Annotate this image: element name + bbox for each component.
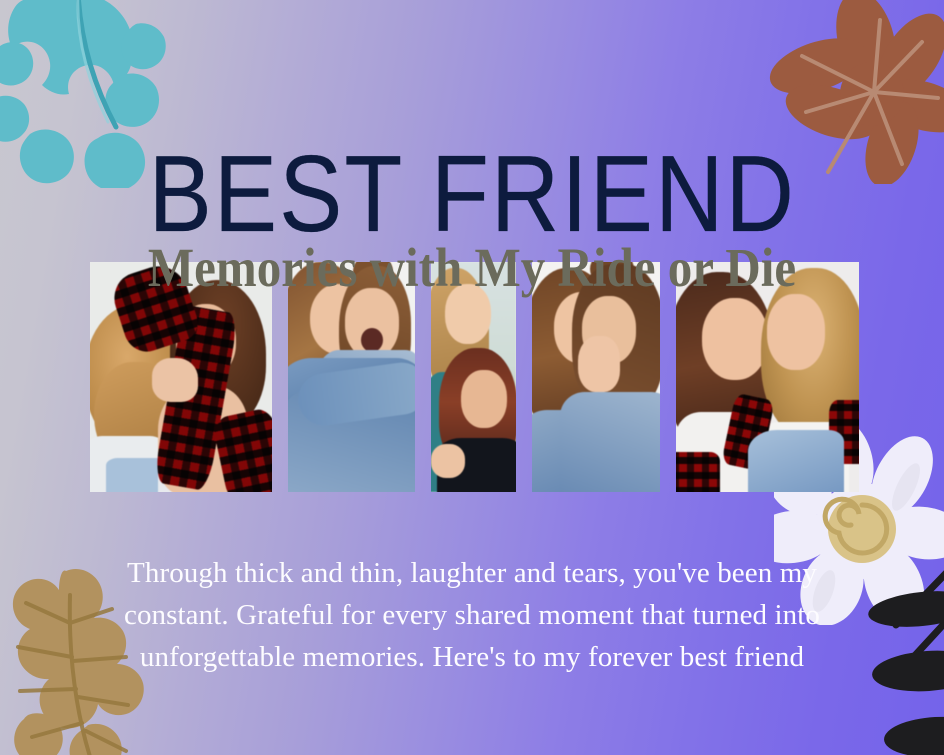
- page-subtitle: Memories with My Ride or Die: [148, 239, 796, 297]
- subtitle-container: Memories with My Ride or Die: [0, 198, 944, 331]
- poster-canvas: BEST FRIEND Memories with My Ride or Die: [0, 0, 944, 755]
- body-text: Through thick and thin, laughter and tea…: [78, 553, 866, 678]
- body-text-container: Through thick and thin, laughter and tea…: [78, 524, 866, 707]
